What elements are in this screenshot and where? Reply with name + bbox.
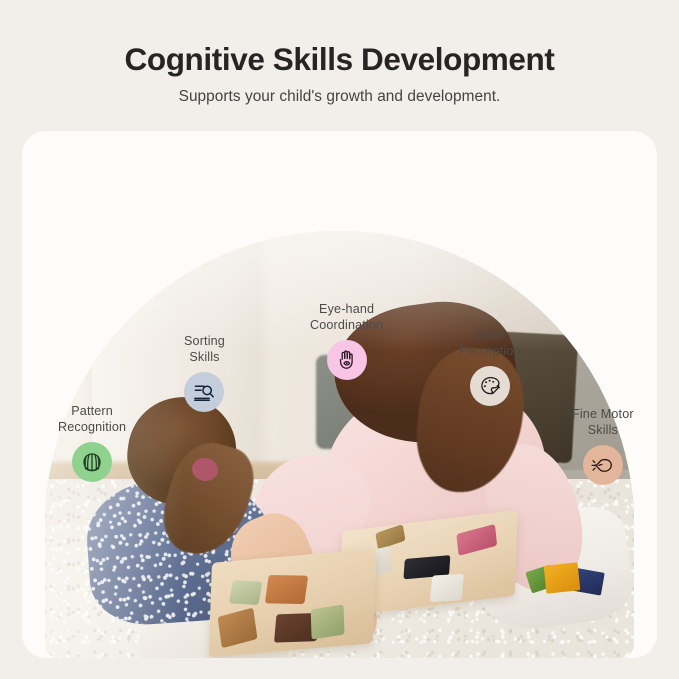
block-yellow — [543, 562, 579, 594]
page-subtitle: Supports your child's growth and develop… — [0, 88, 679, 106]
skill-badge-fine-motor-skills[interactable] — [583, 445, 623, 485]
sort-search-icon — [192, 380, 216, 404]
skill-marker-sorting-skills[interactable]: Sorting Skills — [184, 333, 225, 412]
skill-label-sorting-skills: Sorting Skills — [184, 333, 225, 365]
skill-badge-pattern-recognition[interactable] — [72, 442, 112, 482]
skill-label-color-perception: Color Perception — [459, 327, 521, 359]
feature-card: Pattern Recognition Sorting Skill — [22, 131, 657, 658]
lifestyle-photo — [45, 231, 634, 658]
product-feature-page: Cognitive Skills Development Supports yo… — [0, 0, 679, 679]
page-header: Cognitive Skills Development Supports yo… — [0, 0, 679, 106]
skill-marker-color-perception[interactable]: Color Perception — [459, 327, 521, 406]
skill-badge-color-perception[interactable] — [470, 366, 510, 406]
skill-label-fine-motor-skills: Fine Motor Skills — [572, 406, 634, 438]
skill-marker-pattern-recognition[interactable]: Pattern Recognition — [58, 403, 126, 482]
photo-scene — [45, 231, 634, 658]
skill-marker-fine-motor-skills[interactable]: Fine Motor Skills — [572, 406, 634, 485]
pinch-hand-icon — [590, 453, 615, 478]
puzzle-piece — [217, 607, 257, 648]
puzzle-piece — [455, 524, 496, 556]
puzzle-piece — [229, 579, 262, 603]
skill-badge-sorting-skills[interactable] — [184, 372, 224, 412]
puzzle-piece — [375, 525, 406, 551]
puzzle-piece — [429, 575, 463, 603]
skill-marker-eye-hand-coordination[interactable]: Eye-hand Coordination — [310, 301, 383, 380]
palette-icon — [478, 374, 502, 398]
puzzle-piece — [265, 574, 308, 603]
wooden-blocks — [528, 560, 605, 598]
shell-icon — [80, 450, 104, 474]
hand-eye-icon — [335, 348, 359, 372]
skill-label-eye-hand-coordination: Eye-hand Coordination — [310, 301, 383, 333]
skill-badge-eye-hand-coordination[interactable] — [327, 340, 367, 380]
skill-label-pattern-recognition: Pattern Recognition — [58, 403, 126, 435]
puzzle-piece — [311, 604, 345, 639]
page-title: Cognitive Skills Development — [0, 40, 679, 79]
wooden-puzzle-board-front — [209, 548, 377, 657]
